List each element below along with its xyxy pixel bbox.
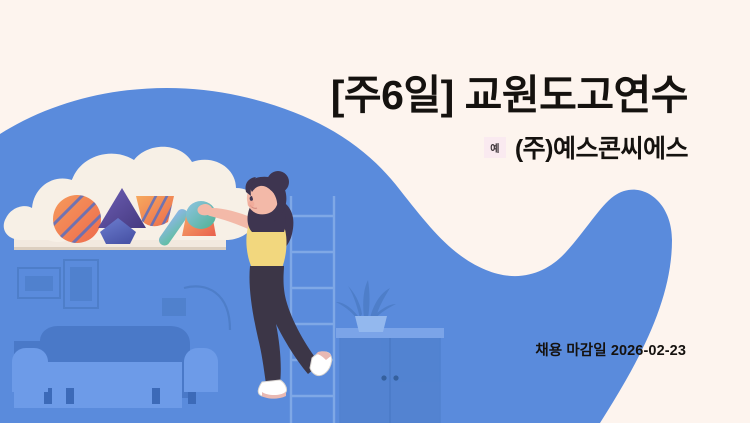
shelf-shadow: [14, 247, 226, 250]
cabinet: [336, 328, 444, 423]
job-posting-banner: [주6일] 교원도고연수 예 (주)예스콘씨에스 채용 마감일 2026-02-…: [0, 0, 750, 423]
illustration-artwork: [0, 0, 750, 423]
sofa: [12, 326, 218, 408]
